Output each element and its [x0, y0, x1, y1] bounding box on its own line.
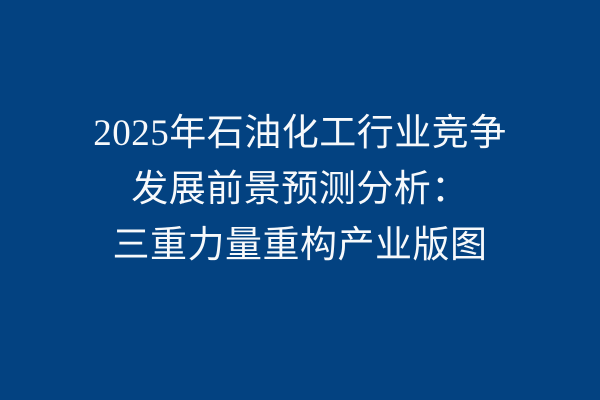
- title-line-2: 发展前景预测分析：: [0, 162, 600, 218]
- title-line-1: 2025年石油化工行业竞争: [0, 106, 600, 162]
- title-text-block: 2025年石油化工行业竞争 发展前景预测分析： 三重力量重构产业版图: [0, 106, 600, 274]
- title-line-3: 三重力量重构产业版图: [0, 218, 600, 274]
- title-card: 2025年石油化工行业竞争 发展前景预测分析： 三重力量重构产业版图: [0, 0, 600, 400]
